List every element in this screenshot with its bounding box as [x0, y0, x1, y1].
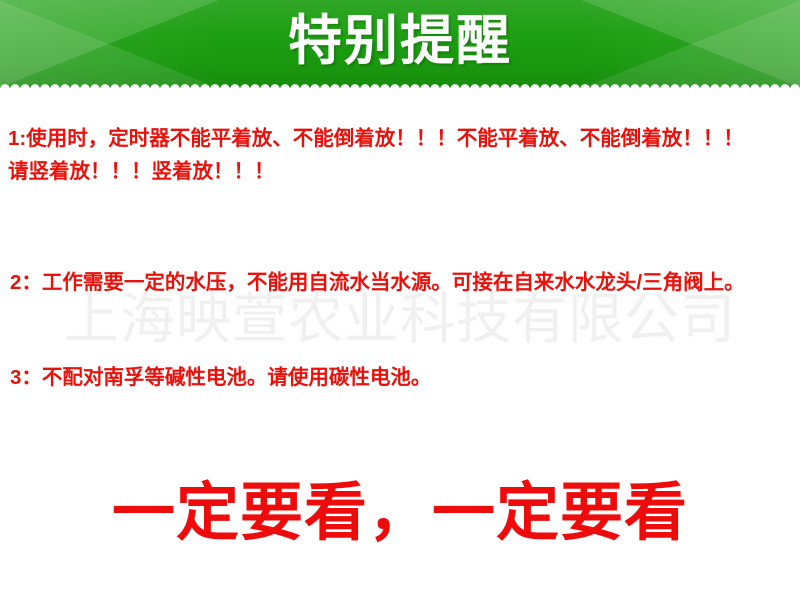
notice-item-3: 3：不配对南孚等碱性电池。请使用碳性电池。 [0, 361, 800, 394]
notice-list: 1:使用时，定时器不能平着放、不能倒着放！！！不能平着放、不能倒着放！！！ 请竖… [0, 122, 800, 394]
notice-item-1: 1:使用时，定时器不能平着放、不能倒着放！！！不能平着放、不能倒着放！！！ 请竖… [0, 122, 800, 188]
banner-header: 特别提醒 [0, 0, 800, 88]
notice-item-3-line-1: 3：不配对南孚等碱性电池。请使用碳性电池。 [10, 366, 431, 389]
notice-item-2-line-1: 2：工作需要一定的水压，不能用自流水当水源。可接在自来水水龙头/三角阀上。 [10, 271, 745, 294]
notice-item-2: 2：工作需要一定的水压，不能用自流水当水源。可接在自来水水龙头/三角阀上。 [0, 266, 800, 299]
banner-title: 特别提醒 [0, 4, 800, 78]
notice-page: 特别提醒 上海映萱农业科技有限公司 1:使用时，定时器不能平着放、不能倒着放！！… [0, 0, 800, 615]
bottom-callout-text: 一定要看，一定要看 [0, 470, 800, 556]
notice-item-1-line-1: 1:使用时，定时器不能平着放、不能倒着放！！！不能平着放、不能倒着放！！！ [8, 127, 744, 150]
notice-item-1-line-2: 请竖着放！！！竖着放！！！ [8, 155, 794, 188]
